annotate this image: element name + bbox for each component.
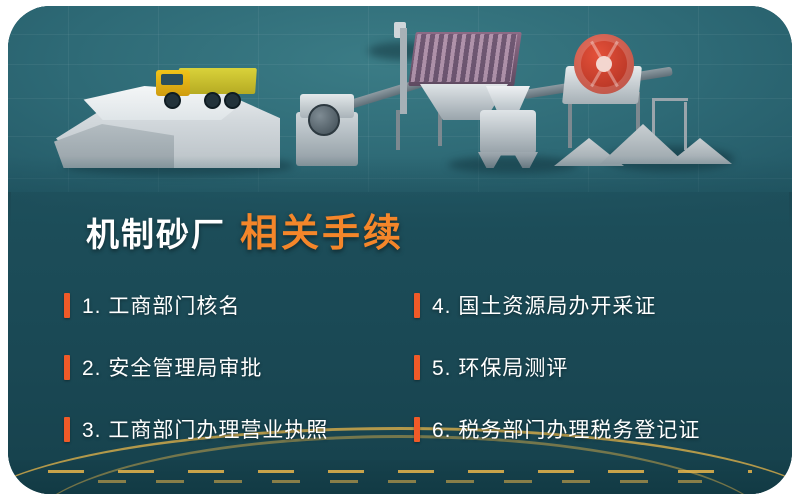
list-item-label: 4. 国土资源局办开采证 [432, 290, 656, 320]
bullet-bar-icon [414, 417, 420, 442]
bullet-bar-icon [414, 293, 420, 318]
bullet-bar-icon [64, 355, 70, 380]
list-item-label: 3. 工商部门办理营业执照 [82, 414, 328, 444]
dump-truck-window [161, 74, 183, 85]
bullet-bar-icon [64, 417, 70, 442]
list-item-label: 2. 安全管理局审批 [82, 352, 262, 382]
truck-wheel [204, 92, 221, 109]
list-item: 4. 国土资源局办开采证 [414, 274, 754, 336]
sand-washer-hub [596, 56, 612, 72]
list-item: 2. 安全管理局审批 [64, 336, 414, 398]
jaw-crusher-flywheel [308, 104, 340, 136]
vibrating-screen-mesh [411, 34, 518, 82]
list-item-label: 6. 税务部门办理税务登记证 [432, 414, 700, 444]
list-item: 6. 税务部门办理税务登记证 [414, 398, 754, 460]
bullet-bar-icon [64, 293, 70, 318]
page-title: 机制砂厂 相关手续 [86, 202, 404, 257]
list-item-label: 5. 环保局测评 [432, 352, 568, 382]
poster-canvas: 机制砂厂 相关手续 1. 工商部门核名 4. 国土资源局办开采证 2. 安全管理… [0, 0, 800, 500]
poster-panel: 机制砂厂 相关手续 1. 工商部门核名 4. 国土资源局办开采证 2. 安全管理… [8, 6, 792, 494]
truck-wheel [164, 92, 181, 109]
bullet-bar-icon [414, 355, 420, 380]
list-item: 5. 环保局测评 [414, 336, 754, 398]
list-item: 1. 工商部门核名 [64, 274, 414, 336]
cone-crusher-body [480, 110, 536, 154]
title-main: 机制砂厂 [86, 208, 226, 256]
truck-wheel [224, 92, 241, 109]
screen-tower-left [400, 28, 407, 114]
list-item-label: 1. 工商部门核名 [82, 290, 240, 320]
title-accent: 相关手续 [240, 202, 404, 257]
list-item: 3. 工商部门办理营业执照 [64, 398, 414, 460]
procedure-list: 1. 工商部门核名 4. 国土资源局办开采证 2. 安全管理局审批 5. 环保局… [64, 274, 754, 460]
